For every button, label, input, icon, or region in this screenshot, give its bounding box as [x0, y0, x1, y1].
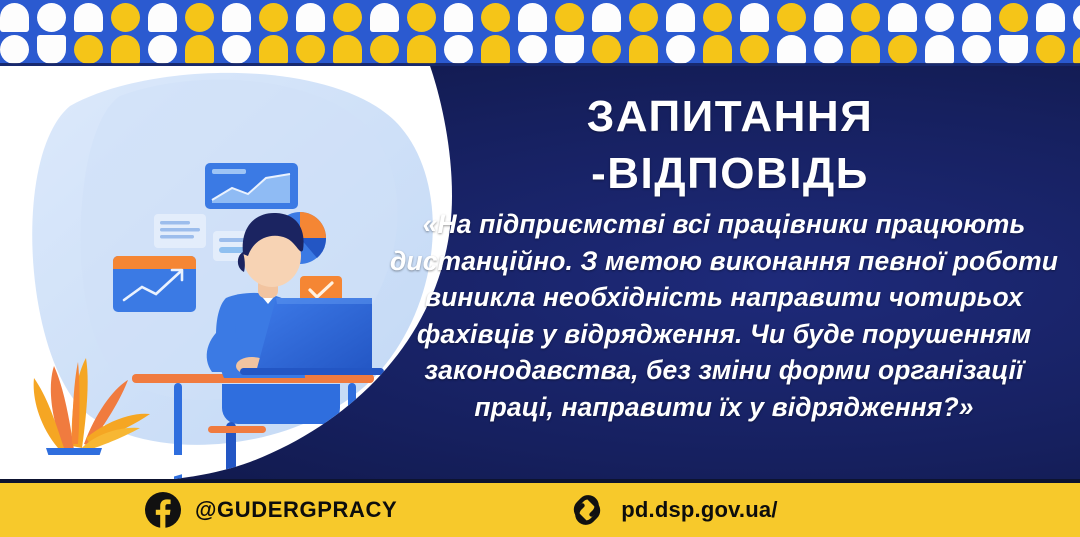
question-line-4: фахівців у відрядження. Чи буде порушенн… — [386, 316, 1062, 353]
pattern-shape-circle-white — [222, 35, 251, 64]
pattern-shape-arch-yellow — [703, 35, 732, 64]
pattern-row-top — [0, 2, 1080, 32]
pattern-shape-circle-yellow — [111, 3, 140, 32]
title-line-2: -ВІДПОВІДЬ — [400, 145, 1060, 202]
pattern-shape-arch-white — [1036, 3, 1065, 32]
pattern-shape-circle-yellow — [1036, 35, 1065, 64]
question-line-5: законодавства, без зміни форми організац… — [386, 352, 1062, 389]
pattern-shape-circle-yellow — [592, 35, 621, 64]
pattern-shape-arch-yellow — [481, 35, 510, 64]
pattern-shape-arch-yellow — [629, 35, 658, 64]
pattern-shape-arch-yellow — [851, 35, 880, 64]
line-chart-card — [113, 256, 196, 312]
pattern-shape-arch-white — [296, 3, 325, 32]
pattern-shape-arch-yellow — [259, 35, 288, 64]
pattern-shape-circle-yellow — [999, 3, 1028, 32]
pattern-shape-arch-white — [518, 3, 547, 32]
website-link-label: pd.dsp.gov.ua/ — [621, 497, 777, 523]
question-text: «На підприємстві всі працівники працюють… — [386, 206, 1062, 425]
pattern-shape-arch-white — [222, 3, 251, 32]
decorative-pattern-band — [0, 0, 1080, 66]
pattern-shape-circle-white — [148, 35, 177, 64]
pattern-shape-arch-down-white — [555, 35, 584, 64]
question-line-1: «На підприємстві всі працівники працюють — [386, 206, 1062, 243]
question-line-3: виникла необхідність направити чотирьох — [386, 279, 1062, 316]
question-line-2: дистанційно. З метою виконання певної ро… — [386, 243, 1062, 280]
pattern-shape-circle-white — [814, 35, 843, 64]
pattern-shape-circle-yellow — [333, 3, 362, 32]
area-chart-card — [205, 163, 298, 209]
question-line-6: праці, направити їх у відрядження?» — [386, 389, 1062, 426]
pattern-shape-circle-white — [444, 35, 473, 64]
pattern-shape-circle-white — [518, 35, 547, 64]
poster-canvas: ЗАПИТАННЯ -ВІДПОВІДЬ «На підприємстві вс… — [0, 0, 1080, 537]
facebook-handle[interactable]: @GUDERGPRACY — [145, 492, 397, 528]
pattern-shape-circle-yellow — [703, 3, 732, 32]
pattern-shape-circle-yellow — [185, 3, 214, 32]
pattern-shape-circle-white — [0, 35, 29, 64]
pattern-shape-arch-down-white — [37, 35, 66, 64]
pattern-shape-arch-white — [592, 3, 621, 32]
pattern-shape-arch-white — [666, 3, 695, 32]
link-icon — [567, 492, 607, 528]
facebook-icon — [145, 492, 181, 528]
pattern-shape-circle-yellow — [555, 3, 584, 32]
footer-bar: @GUDERGPRACY pd.dsp.gov.ua/ — [0, 483, 1080, 537]
page-title: ЗАПИТАННЯ -ВІДПОВІДЬ — [400, 88, 1060, 202]
pattern-shape-circle-yellow — [851, 3, 880, 32]
pattern-shape-circle-yellow — [740, 35, 769, 64]
pattern-shape-circle-white — [962, 35, 991, 64]
pattern-shape-arch-yellow — [333, 35, 362, 64]
text-card — [154, 214, 206, 248]
pattern-shape-arch-white — [777, 35, 806, 64]
pattern-shape-circle-white — [1073, 3, 1080, 32]
pattern-shape-arch-white — [148, 3, 177, 32]
pattern-shape-arch-white — [370, 3, 399, 32]
pattern-shape-circle-yellow — [259, 3, 288, 32]
pattern-shape-arch-white — [925, 35, 954, 64]
pattern-shape-arch-white — [814, 3, 843, 32]
pattern-shape-circle-yellow — [407, 3, 436, 32]
pattern-shape-arch-yellow — [185, 35, 214, 64]
pattern-shape-arch-yellow — [407, 35, 436, 64]
pattern-shape-arch-down-white — [999, 35, 1028, 64]
pattern-shape-arch-white — [444, 3, 473, 32]
pattern-shape-circle-yellow — [74, 35, 103, 64]
pattern-shape-arch-yellow — [111, 35, 140, 64]
title-line-1: ЗАПИТАННЯ — [400, 88, 1060, 145]
pattern-shape-circle-yellow — [481, 3, 510, 32]
pattern-shape-circle-white — [666, 35, 695, 64]
pattern-shape-circle-white — [37, 3, 66, 32]
pattern-shape-arch-white — [962, 3, 991, 32]
pattern-shape-arch-white — [74, 3, 103, 32]
pattern-shape-circle-yellow — [296, 35, 325, 64]
facebook-handle-label: @GUDERGPRACY — [195, 497, 397, 523]
pattern-shape-circle-white — [925, 3, 954, 32]
pattern-shape-arch-white — [740, 3, 769, 32]
pattern-shape-circle-yellow — [370, 35, 399, 64]
pattern-shape-circle-yellow — [888, 35, 917, 64]
website-link[interactable]: pd.dsp.gov.ua/ — [567, 492, 777, 528]
pattern-shape-arch-yellow — [1073, 35, 1080, 64]
pattern-shape-circle-yellow — [629, 3, 658, 32]
pattern-row-bottom — [0, 34, 1080, 64]
pattern-shape-circle-yellow — [777, 3, 806, 32]
pattern-shape-arch-white — [888, 3, 917, 32]
pattern-shape-arch-white — [0, 3, 29, 32]
